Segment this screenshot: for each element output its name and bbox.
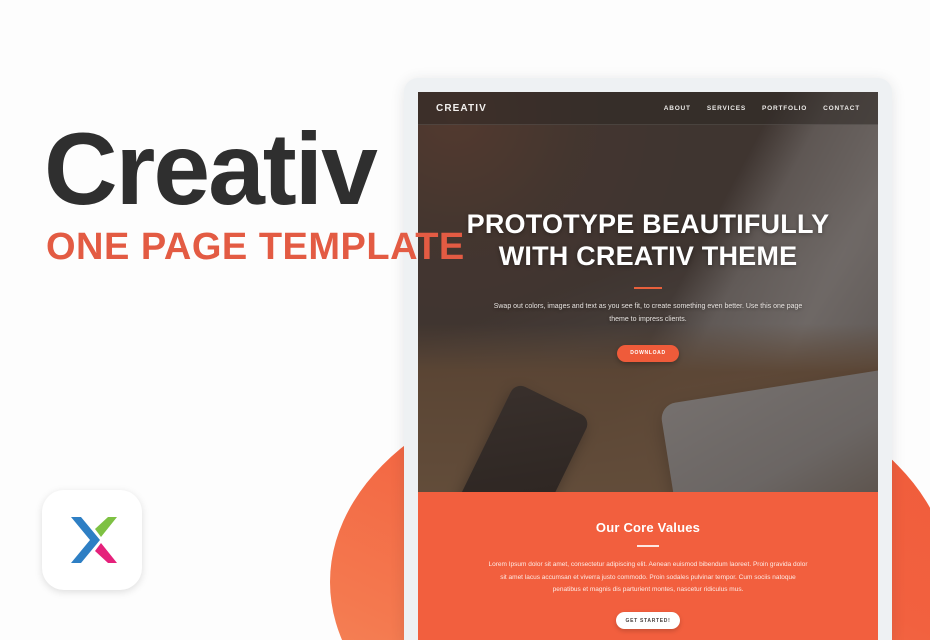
hero-subtitle: Swap out colors, images and text as you …	[493, 301, 803, 327]
brand-subtitle: ONE PAGE TEMPLATE	[46, 226, 465, 269]
download-button[interactable]: DOWNLOAD	[617, 345, 679, 362]
core-values-body: Lorem Ipsum dolor sit amet, consectetur …	[488, 559, 808, 597]
nav-link-about[interactable]: ABOUT	[664, 105, 691, 112]
mockup-screen: CREATIV ABOUT SERVICES PORTFOLIO CONTACT…	[418, 92, 878, 640]
get-started-button[interactable]: GET STARTED!	[616, 612, 680, 629]
core-values-section: Our Core Values Lorem Ipsum dolor sit am…	[418, 492, 878, 640]
nav-logo[interactable]: CREATIV	[436, 103, 487, 114]
hero-divider	[634, 287, 662, 289]
hero-title: PROTOTYPE BEAUTIFULLY WITH CREATIV THEME	[446, 209, 850, 273]
core-values-divider	[637, 545, 659, 547]
hero-content: PROTOTYPE BEAUTIFULLY WITH CREATIV THEME…	[418, 125, 878, 362]
nav-link-portfolio[interactable]: PORTFOLIO	[762, 105, 807, 112]
nav-link-contact[interactable]: CONTACT	[823, 105, 860, 112]
nav-link-services[interactable]: SERVICES	[707, 105, 746, 112]
hero-section: CREATIV ABOUT SERVICES PORTFOLIO CONTACT…	[418, 92, 878, 492]
page-title: Creativ	[44, 118, 465, 220]
device-mockup-frame: CREATIV ABOUT SERVICES PORTFOLIO CONTACT…	[404, 78, 892, 640]
hero-title-line-2: WITH CREATIV THEME	[446, 241, 850, 273]
axure-x-glyph	[61, 509, 123, 571]
axure-rp-logo-icon	[42, 490, 142, 590]
brand-lockup: Creativ ONE PAGE TEMPLATE	[44, 118, 465, 269]
core-values-title: Our Core Values	[418, 520, 878, 535]
nav-links: ABOUT SERVICES PORTFOLIO CONTACT	[664, 105, 860, 112]
hero-title-line-1: PROTOTYPE BEAUTIFULLY	[446, 209, 850, 241]
site-nav: CREATIV ABOUT SERVICES PORTFOLIO CONTACT	[418, 92, 878, 125]
poster-canvas: Creativ ONE PAGE TEMPLATE CREATIV ABO	[0, 0, 930, 640]
